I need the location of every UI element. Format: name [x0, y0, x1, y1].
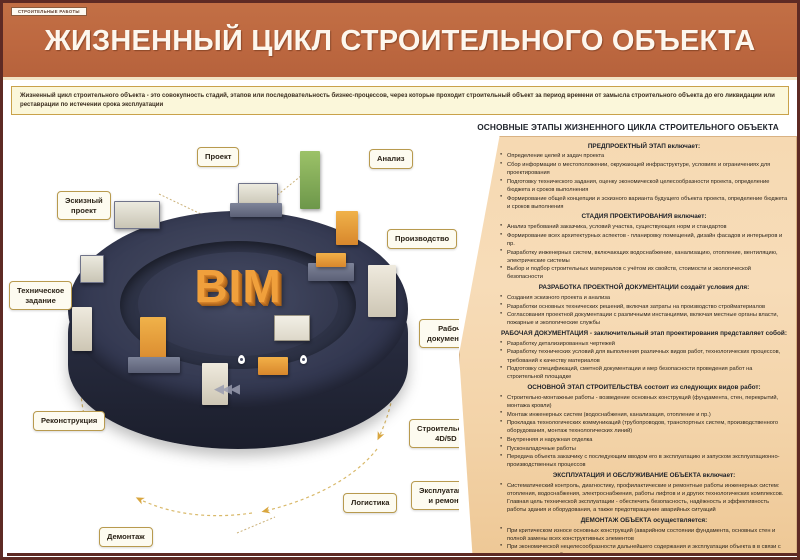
bullet-item: Анализ требований заказчика, условий уча…: [500, 223, 788, 231]
prop-pallets: [72, 307, 92, 351]
bullet-item: Разработку детализированных чертежей: [500, 340, 788, 348]
bim-platform: BIM ◀◀◀: [62, 189, 414, 479]
section-bullet-list: Анализ требований заказчика, условий уча…: [500, 223, 788, 281]
bullet-item: Сбор информации о местоположении, окружа…: [500, 161, 788, 177]
prop-base-midleft: [128, 357, 180, 373]
bullet-item: Систематический контроль, диагностику, п…: [500, 482, 788, 514]
bullet-item: Формирование всех архитектурных аспектов…: [500, 232, 788, 248]
bullet-item: Монтаж инженерных систем (водоснабжения,…: [500, 411, 788, 419]
prop-tower-green: [300, 151, 320, 209]
section-bullet-list: Создания эскизного проекта и анализаРазр…: [500, 294, 788, 328]
section-heading: РАЗРАБОТКА ПРОЕКТНОЙ ДОКУМЕНТАЦИИ создаё…: [500, 284, 788, 292]
label-eskizny-proekt[interactable]: Эскизныйпроект: [57, 191, 111, 220]
bullet-item: Выбор и подбор строительных материалов с…: [500, 265, 788, 281]
lifecycle-diagram: BIM ◀◀◀ Проект Анализ Эскизныйпроект Про…: [7, 119, 459, 556]
bullet-item: При критическом износе основных конструк…: [500, 527, 788, 543]
section-bullet-list: Разработку детализированных чертежейРазр…: [500, 340, 788, 382]
section-bullet-list: Систематический контроль, диагностику, п…: [500, 482, 788, 514]
section-heading: ПРЕДПРОЕКТНЫЙ ЭТАП включает:: [500, 143, 788, 151]
prop-clipboard: [80, 255, 104, 283]
prop-truck: [258, 357, 288, 375]
map-pin-icon-left: [238, 355, 245, 364]
section-bullet-list: При критическом износе основных конструк…: [500, 527, 788, 556]
label-rabochaya-dokumentaciya[interactable]: Рабочаядокументация: [419, 319, 459, 348]
category-badge: СТРОИТЕЛЬНЫЕ РАБОТЫ: [11, 7, 87, 16]
flow-chevron-icon: ◀◀◀: [214, 381, 238, 397]
map-pin-icon-right: [300, 355, 307, 364]
prop-plans: [274, 315, 310, 341]
bullet-item: Передача объекта заказчику с последующим…: [500, 453, 788, 469]
bullet-item: Создания эскизного проекта и анализа: [500, 294, 788, 302]
section-heading: ДЕМОНТАЖ ОБЪЕКТА осуществляется:: [500, 517, 788, 525]
prop-building-orange: [336, 211, 358, 245]
section-bullet-list: Строительно-монтажные работы - возведени…: [500, 394, 788, 470]
label-logistika[interactable]: Логистика: [343, 493, 397, 513]
label-demontazh[interactable]: Демонтаж: [99, 527, 153, 547]
prop-excavator: [316, 253, 346, 267]
bullet-item: Подготовку спецификаций, сметной докумен…: [500, 365, 788, 381]
section-heading: ОСНОВНОЙ ЭТАП СТРОИТЕЛЬСТВА состоит из с…: [500, 384, 788, 392]
prop-desk-top: [230, 203, 282, 217]
poster-footer-rule: [7, 553, 797, 556]
prop-monitor-left: [114, 201, 160, 229]
section-heading: РАБОЧАЯ ДОКУМЕНТАЦИЯ - заключительный эт…: [500, 330, 788, 338]
bullet-item: Строительно-монтажные работы - возведени…: [500, 394, 788, 410]
bullet-item: Разработки основных технических решений,…: [500, 303, 788, 311]
section-bullet-list: Определение целей и задач проектаСбор ин…: [500, 152, 788, 210]
label-analiz[interactable]: Анализ: [369, 149, 413, 169]
bullet-item: Согласования проектной документации с ра…: [500, 311, 788, 327]
label-proekt[interactable]: Проект: [197, 147, 239, 167]
label-tehnicheskoe-zadanie[interactable]: Техническоезадание: [9, 281, 72, 310]
stages-panel-body: ПРЕДПРОЕКТНЫЙ ЭТАП включает:Определение …: [459, 136, 797, 556]
definition-banner: Жизненный цикл строительного объекта - э…: [11, 86, 789, 115]
bullet-item: Прокладка технологических коммуникаций (…: [500, 419, 788, 435]
bullet-item: Пусконаладочные работы: [500, 445, 788, 453]
bullet-item: Подготовку технического задания, оценку …: [500, 178, 788, 194]
bullet-item: Определение целей и задач проекта: [500, 152, 788, 160]
label-ekspluataciya-i-remont[interactable]: Эксплуатацияи ремонт: [411, 481, 459, 510]
stages-panel-title: ОСНОВНЫЕ ЭТАПЫ ЖИЗНЕННОГО ЦИКЛА СТРОИТЕЛ…: [459, 119, 797, 132]
poster-root: СТРОИТЕЛЬНЫЕ РАБОТЫ ЖИЗНЕННЫЙ ЦИКЛ СТРОИ…: [0, 0, 800, 560]
section-heading: ЭКСПЛУАТАЦИЯ И ОБСЛУЖИВАНИЕ ОБЪЕКТА вклю…: [500, 472, 788, 480]
bullet-item: Разработку инженерных систем, включающих…: [500, 249, 788, 265]
label-rekonstrukciya[interactable]: Реконструкция: [33, 411, 105, 431]
bullet-item: Внутренняя и наружная отделка: [500, 436, 788, 444]
poster-header: СТРОИТЕЛЬНЫЕ РАБОТЫ ЖИЗНЕННЫЙ ЦИКЛ СТРОИ…: [3, 3, 797, 80]
bullet-item: Формирование общей концепции и эскизного…: [500, 195, 788, 211]
stages-panel: ОСНОВНЫЕ ЭТАПЫ ЖИЗНЕННОГО ЦИКЛА СТРОИТЕЛ…: [459, 119, 797, 556]
label-proizvodstvo[interactable]: Производство: [387, 229, 457, 249]
label-stroitelstvo-4d5d[interactable]: Строительство4D/5D: [409, 419, 459, 448]
bullet-item: Разработку технических условий для выпол…: [500, 348, 788, 364]
prop-scaffold: [368, 265, 396, 317]
page-title: ЖИЗНЕННЫЙ ЦИКЛ СТРОИТЕЛЬНОГО ОБЪЕКТА: [3, 25, 797, 58]
section-heading: СТАДИЯ ПРОЕКТИРОВАНИЯ включает:: [500, 213, 788, 221]
